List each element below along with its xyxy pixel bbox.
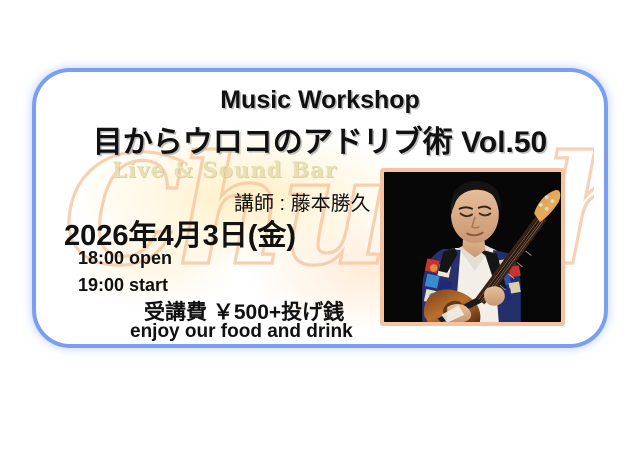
artist-photo-frame bbox=[380, 168, 565, 326]
venue-name: Live & Sound Bar bbox=[112, 157, 337, 182]
artist-photo bbox=[384, 172, 561, 322]
open-time: 18:00 open bbox=[78, 248, 172, 269]
page-title: Music Workshop bbox=[36, 86, 604, 115]
food-drink-note: enjoy our food and drink bbox=[130, 321, 353, 343]
event-flyer-card: Church Music Workshop 目からウロコのアドリブ術 Vol.5… bbox=[36, 72, 604, 344]
start-time: 19:00 start bbox=[78, 275, 168, 296]
page-subtitle: 目からウロコのアドリブ術 Vol.50 bbox=[36, 117, 604, 161]
